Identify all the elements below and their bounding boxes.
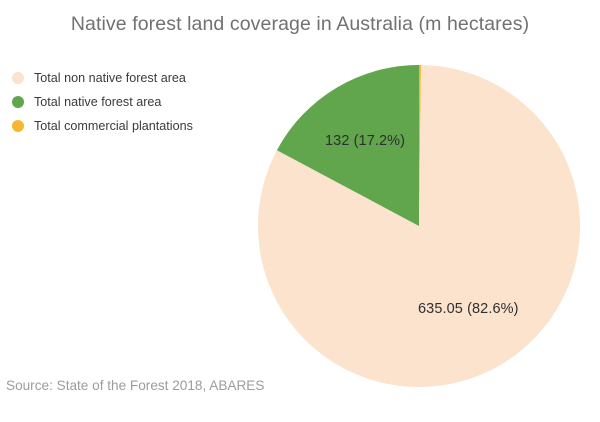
legend-item-commercial-plantations[interactable]: Total commercial plantations — [10, 114, 240, 138]
legend-swatch-icon-non-native-forest — [12, 72, 24, 84]
pie-plot-area — [258, 65, 580, 387]
pie-slice-group — [258, 65, 580, 387]
pie-svg — [258, 65, 580, 387]
slice-data-label-non-native-forest: 635.05 (82.6%) — [418, 301, 519, 317]
legend-label-non-native-forest: Total non native forest area — [34, 72, 186, 85]
legend-swatch-icon-commercial-plantations — [12, 120, 24, 132]
legend-label-commercial-plantations: Total commercial plantations — [34, 120, 193, 133]
chart-legend: Total non native forest area Total nativ… — [10, 66, 240, 138]
legend-item-native-forest[interactable]: Total native forest area — [10, 90, 240, 114]
legend-item-non-native-forest[interactable]: Total non native forest area — [10, 66, 240, 90]
chart-title: Native forest land coverage in Australia… — [0, 13, 600, 36]
pie-chart-figure: Native forest land coverage in Australia… — [0, 0, 600, 422]
legend-label-native-forest: Total native forest area — [34, 96, 161, 109]
slice-data-label-native-forest: 132 (17.2%) — [325, 133, 405, 149]
source-note: Source: State of the Forest 2018, ABARES — [6, 378, 264, 393]
legend-swatch-icon-native-forest — [12, 96, 24, 108]
